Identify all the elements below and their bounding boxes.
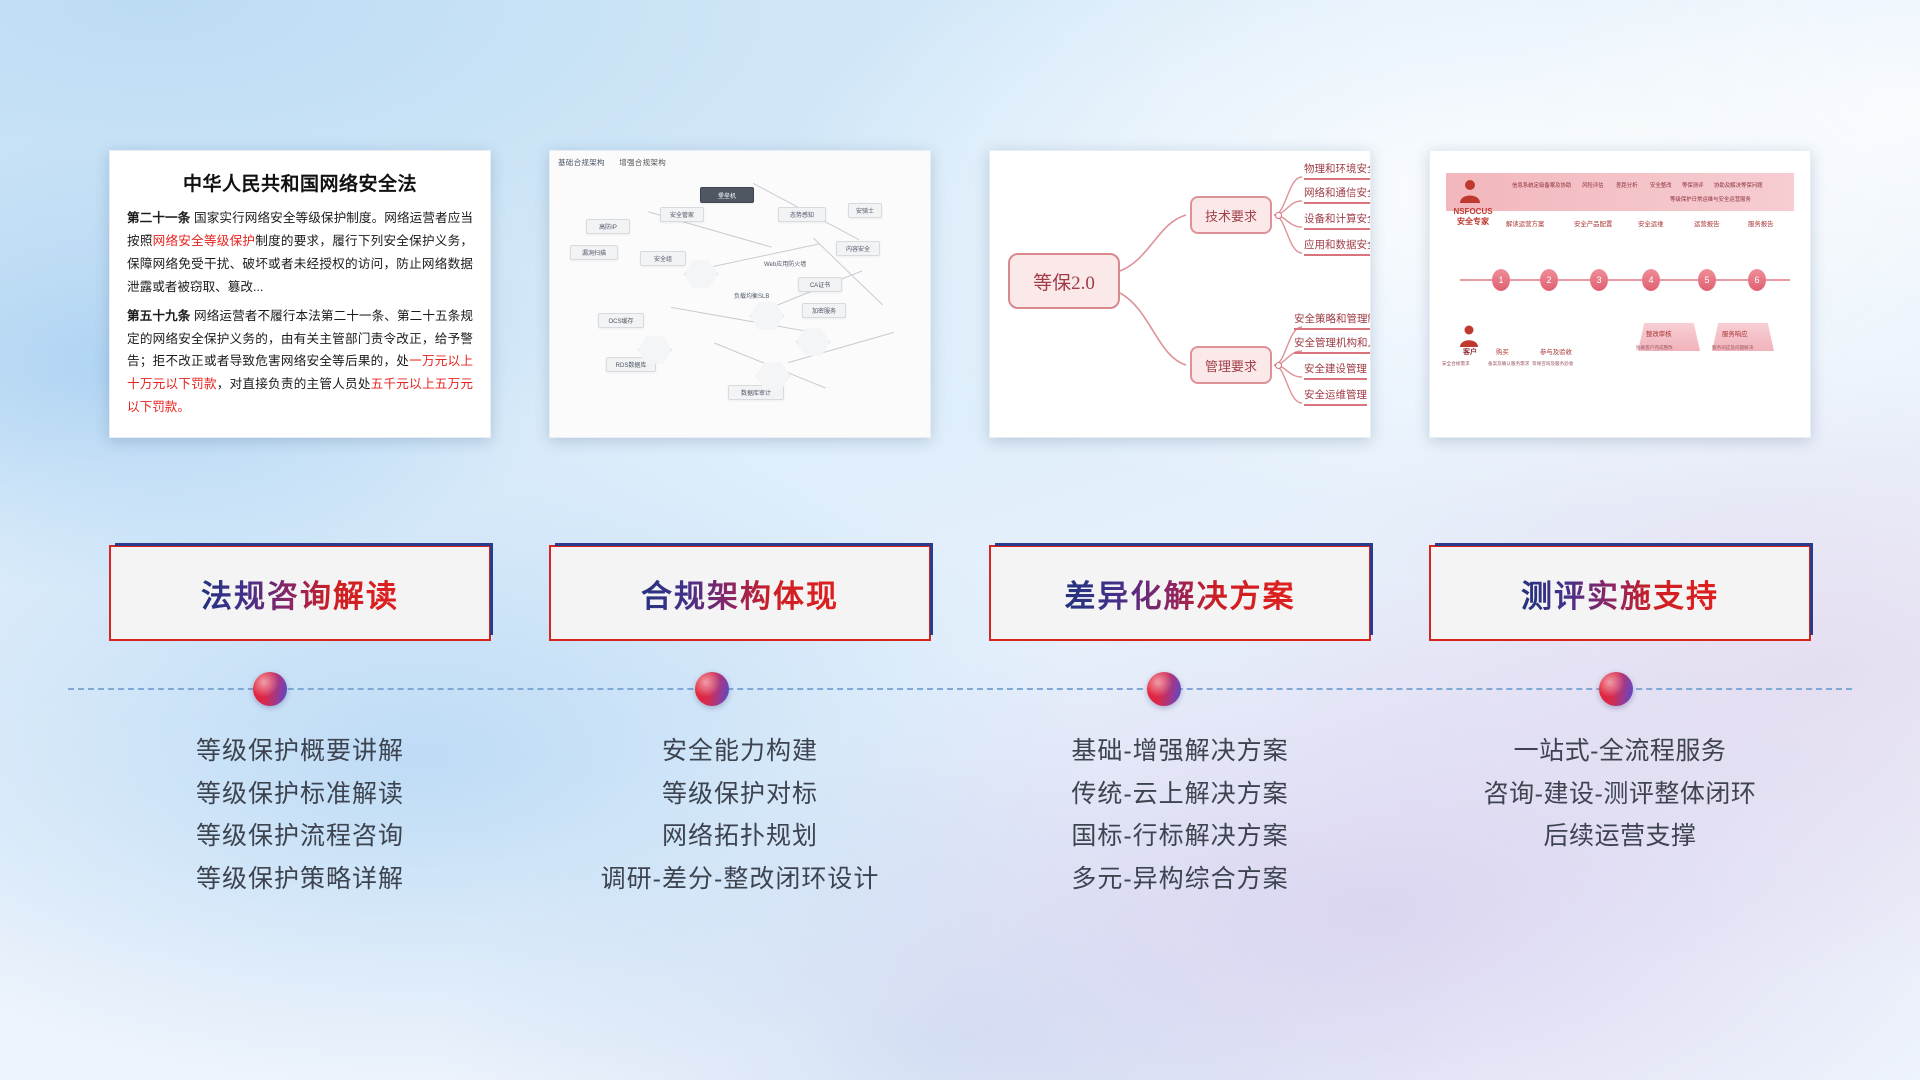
timeline-dot-4[interactable] <box>1599 672 1633 706</box>
architecture-card-header: 基础合规架构 增强合规架构 <box>558 157 666 168</box>
mindmap-branch-technical[interactable]: 技术要求 <box>1190 196 1272 234</box>
list-item: 等级保护概要讲解 <box>109 730 491 773</box>
mindmap-leaf[interactable]: 安全管理机构和人员 <box>1294 335 1371 354</box>
category-title-label-1: 法规咨询解读 <box>201 571 399 616</box>
customer-icon <box>1456 323 1482 349</box>
architecture-node[interactable]: 态势感知 <box>778 207 826 222</box>
nsfocus-stage-node[interactable]: 6 <box>1748 269 1766 291</box>
architecture-node[interactable]: 漏洞扫描 <box>570 245 618 260</box>
law-article-21-run-1: 网络安全等级保护 <box>153 234 256 248</box>
law-article-59: 第五十九条 网络运营者不履行本法第二十一条、第二十五条规定的网络安全保护义务的，… <box>127 305 473 420</box>
dengbao-mindmap-card[interactable]: 等保2.0 技术要求 管理要求 物理和环境安全 网络和通信安全 设备和计算安全 … <box>989 150 1371 438</box>
cybersecurity-law-card[interactable]: 中华人民共和国网络安全法 第二十一条 国家实行网络安全等级保护制度。网络运营者应… <box>109 150 491 438</box>
nsfocus-stage-node[interactable]: 2 <box>1540 269 1558 291</box>
architecture-label-waf: Web应用防火墙 <box>764 259 806 268</box>
architecture-header-right: 增强合规架构 <box>619 158 666 167</box>
mindmap-leaf[interactable]: 网络和通信安全 <box>1304 185 1371 204</box>
timeline-connector <box>0 660 1920 720</box>
nsfocus-band-chip: 安全整改 <box>1650 181 1672 189</box>
mindmap-leaf[interactable]: 安全策略和管理制度 <box>1294 311 1371 330</box>
timeline-dot-3[interactable] <box>1147 672 1181 706</box>
timeline-dot-1[interactable] <box>253 672 287 706</box>
nsfocus-bottom-tag: 参与及验收 <box>1540 347 1572 356</box>
detail-list-column-2: 安全能力构建 等级保护对标 网络拓扑规划 调研-差分-整改闭环设计 <box>549 730 931 990</box>
mindmap-leaf[interactable]: 物理和环境安全 <box>1304 161 1371 180</box>
nsfocus-band-chip: 风险评估 <box>1582 181 1604 189</box>
detail-lists-row: 等级保护概要讲解 等级保护标准解读 等级保护流程咨询 等级保护策略详解 安全能力… <box>0 730 1920 990</box>
mindmap-leaf[interactable]: 应用和数据安全 <box>1304 237 1371 256</box>
nsfocus-band-chip: 等保测评 <box>1682 181 1704 189</box>
mindmap-leaf[interactable]: 设备和计算安全 <box>1304 211 1371 230</box>
architecture-node[interactable]: 安全管家 <box>660 207 704 222</box>
nsfocus-brand: NSFOCUS 安全专家 <box>1444 207 1502 227</box>
nsfocus-customer-label: 客户 <box>1446 349 1494 358</box>
person-icon <box>1456 177 1484 205</box>
nsfocus-top-band <box>1446 173 1794 211</box>
nsfocus-band-chip: 信息系统定级备案及协助 <box>1512 181 1571 189</box>
category-title-label-4: 测评实施支持 <box>1521 571 1719 616</box>
architecture-node[interactable]: 内容安全 <box>836 241 880 256</box>
nsfocus-customer-sub: 安全合规需求 <box>1442 361 1470 367</box>
nsfocus-bottom-sub: 服务响应及问题解决 <box>1712 345 1753 351</box>
architecture-connector <box>671 307 809 332</box>
list-item: 调研-差分-整改闭环设计 <box>549 858 931 901</box>
architecture-label-slb: 负载均衡SLB <box>734 291 769 300</box>
mindmap-collapse-dot-icon[interactable] <box>1275 362 1282 369</box>
cloud-compliance-architecture-card[interactable]: 基础合规架构 增强合规架构 堡垒机 高防IP 漏洞扫描 安全组 安全管家 态势感… <box>549 150 931 438</box>
architecture-hex-node[interactable] <box>684 259 718 289</box>
law-article-59-run-2: ，对直接负责的主管人员处 <box>217 377 371 391</box>
category-title-box-4[interactable]: 测评实施支持 <box>1429 545 1811 641</box>
mindmap-leaf[interactable]: 安全运维管理 <box>1304 387 1367 406</box>
nsfocus-stage-label: 运营报告 <box>1694 219 1720 228</box>
nsfocus-bottom-tag: 购买 <box>1496 347 1509 356</box>
list-item: 等级保护对标 <box>549 773 931 816</box>
architecture-header-left: 基础合规架构 <box>558 158 605 167</box>
nsfocus-stage-node[interactable]: 5 <box>1698 269 1716 291</box>
nsfocus-bottom-sub: 等保咨询及服务验收 <box>1532 361 1573 367</box>
detail-list-column-1: 等级保护概要讲解 等级保护标准解读 等级保护流程咨询 等级保护策略详解 <box>109 730 491 990</box>
category-title-row: 法规咨询解读 合规架构体现 差异化解决方案 测评实施支持 <box>0 545 1920 645</box>
architecture-node[interactable]: 高防IP <box>586 219 630 234</box>
list-item: 等级保护策略详解 <box>109 858 491 901</box>
law-article-21-number: 第二十一条 <box>127 211 190 225</box>
nsfocus-stage-label: 安全运维 <box>1638 219 1664 228</box>
list-item: 网络拓扑规划 <box>549 815 931 858</box>
architecture-node[interactable]: OCS缓存 <box>598 313 644 328</box>
timeline-dashed-line <box>68 688 1852 690</box>
category-title-box-3[interactable]: 差异化解决方案 <box>989 545 1371 641</box>
nsfocus-stage-node[interactable]: 4 <box>1642 269 1660 291</box>
category-title-label-3: 差异化解决方案 <box>1065 571 1296 616</box>
list-item: 后续运营支撑 <box>1429 815 1811 858</box>
nsfocus-band-chip: 协助及解决等保问题 <box>1714 181 1763 189</box>
category-title-label-2: 合规架构体现 <box>641 571 839 616</box>
mindmap-collapse-dot-icon[interactable] <box>1275 212 1282 219</box>
list-item: 国标-行标解决方案 <box>989 815 1371 858</box>
nsfocus-stage-node[interactable]: 3 <box>1590 269 1608 291</box>
detail-list-column-3: 基础-增强解决方案 传统-云上解决方案 国标-行标解决方案 多元-异构综合方案 <box>989 730 1371 990</box>
law-article-59-number: 第五十九条 <box>127 309 190 323</box>
nsfocus-stage-label: 解读运营方案 <box>1506 219 1544 228</box>
list-item: 等级保护标准解读 <box>109 773 491 816</box>
nsfocus-stage-label: 安全产品配置 <box>1574 219 1612 228</box>
nsfocus-service-timeline-card[interactable]: NSFOCUS 安全专家 信息系统定级备案及协助 风险评估 差距分析 安全整改 … <box>1429 150 1811 438</box>
list-item: 安全能力构建 <box>549 730 931 773</box>
list-item: 等级保护流程咨询 <box>109 815 491 858</box>
nsfocus-bottom-sub: 协助客户完成整改 <box>1636 345 1673 351</box>
nsfocus-stage-node[interactable]: 1 <box>1492 269 1510 291</box>
law-article-21: 第二十一条 国家实行网络安全等级保护制度。网络运营者应当按照网络安全等级保护制度… <box>127 207 473 299</box>
architecture-node[interactable]: CA证书 <box>798 277 842 292</box>
list-item: 传统-云上解决方案 <box>989 773 1371 816</box>
list-item: 一站式-全流程服务 <box>1429 730 1811 773</box>
detail-list-column-4: 一站式-全流程服务 咨询-建设-测评整体闭环 后续运营支撑 <box>1429 730 1811 990</box>
nsfocus-brand-name: NSFOCUS <box>1453 207 1492 216</box>
law-card-title: 中华人民共和国网络安全法 <box>127 169 473 196</box>
list-item: 咨询-建设-测评整体闭环 <box>1429 773 1811 816</box>
architecture-node[interactable]: 安全组 <box>640 251 686 266</box>
nsfocus-brand-sub: 安全专家 <box>1457 217 1489 226</box>
nsfocus-bottom-tag: 整改审核 <box>1646 329 1672 338</box>
mindmap-leaf[interactable]: 安全建设管理 <box>1304 361 1367 380</box>
mindmap-root-node[interactable]: 等保2.0 <box>1008 253 1120 309</box>
nsfocus-band-chip: 等级保护日常运维与安全运营服务 <box>1670 195 1751 203</box>
timeline-dot-2[interactable] <box>695 672 729 706</box>
nsfocus-bottom-sub: 备案及确认服务需求 <box>1488 361 1529 367</box>
category-title-box-2[interactable]: 合规架构体现 <box>549 545 931 641</box>
list-item: 基础-增强解决方案 <box>989 730 1371 773</box>
nsfocus-stage-label: 服务报告 <box>1748 219 1774 228</box>
architecture-node[interactable]: 加密服务 <box>802 303 846 318</box>
architecture-node[interactable]: 安骑士 <box>848 203 882 218</box>
architecture-node-highlight[interactable]: 堡垒机 <box>700 187 754 203</box>
nsfocus-band-chip: 差距分析 <box>1616 181 1638 189</box>
category-title-box-1[interactable]: 法规咨询解读 <box>109 545 491 641</box>
nsfocus-bottom-tag: 服务响应 <box>1722 329 1748 338</box>
mindmap-branch-management[interactable]: 管理要求 <box>1190 346 1272 384</box>
list-item: 多元-异构综合方案 <box>989 858 1371 901</box>
preview-cards-row: 中华人民共和国网络安全法 第二十一条 国家实行网络安全等级保护制度。网络运营者应… <box>0 150 1920 440</box>
